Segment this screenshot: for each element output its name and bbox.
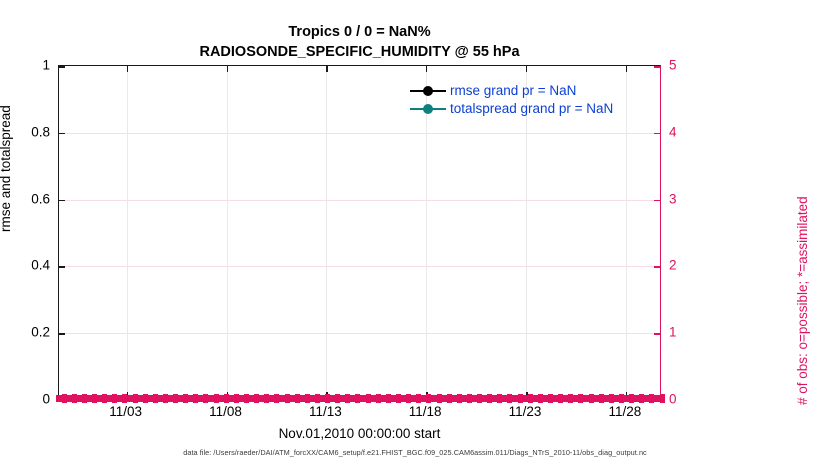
obs-assimilated-marker: [528, 394, 533, 403]
obs-assimilated-marker: [396, 394, 401, 403]
obs-possible-marker: [553, 395, 559, 402]
obs-assimilated-marker: [538, 394, 543, 403]
x-axis-tick-label: 11/18: [390, 404, 460, 419]
x-axis-tick-top: [626, 66, 627, 72]
gridline-vertical: [127, 66, 128, 398]
obs-possible-marker: [573, 395, 579, 402]
obs-possible-marker: [309, 395, 315, 402]
obs-possible-marker: [563, 395, 569, 402]
gridline-vertical: [227, 66, 228, 398]
x-axis-tick-label: 11/23: [490, 404, 560, 419]
obs-assimilated-marker: [639, 394, 644, 403]
obs-assimilated-marker: [457, 394, 462, 403]
obs-assimilated-marker: [62, 394, 67, 403]
obs-possible-marker: [603, 395, 609, 402]
obs-possible-marker: [472, 395, 478, 402]
x-axis-tick-label: 11/28: [590, 404, 660, 419]
chart-title-line-2: RADIOSONDE_SPECIFIC_HUMIDITY @ 55 hPa: [58, 42, 661, 62]
obs-assimilated-marker: [244, 394, 249, 403]
obs-assimilated-marker: [518, 394, 523, 403]
obs-possible-marker: [299, 395, 305, 402]
obs-possible-marker: [593, 395, 599, 402]
obs-assimilated-marker: [558, 394, 563, 403]
obs-assimilated-marker: [376, 394, 381, 403]
chart-title-line-1: Tropics 0 / 0 = NaN%: [58, 22, 661, 42]
x-axis-tick-label: 11/08: [191, 404, 261, 419]
obs-assimilated-marker: [366, 394, 371, 403]
x-axis-tick: [326, 392, 328, 398]
obs-possible-marker: [390, 395, 396, 402]
obs-possible-marker: [228, 395, 234, 402]
obs-assimilated-marker: [568, 394, 573, 403]
y-axis-right-tick: [654, 266, 660, 268]
x-axis-tick-label: 11/03: [91, 404, 161, 419]
obs-assimilated-marker: [467, 394, 472, 403]
obs-assimilated-marker: [649, 394, 654, 403]
obs-possible-marker: [613, 395, 619, 402]
obs-assimilated-marker: [193, 394, 198, 403]
y-axis-left-tick-label: 0.4: [0, 258, 50, 273]
x-axis-tick: [426, 392, 428, 398]
x-axis-tick: [127, 392, 129, 398]
obs-possible-marker: [208, 395, 214, 402]
obs-possible-marker: [137, 395, 143, 402]
obs-possible-marker: [583, 395, 589, 402]
obs-possible-marker: [401, 395, 407, 402]
legend-label-totalspread: totalspread grand pr = NaN: [450, 100, 613, 118]
obs-assimilated-marker: [254, 394, 259, 403]
x-axis-title: Nov.01,2010 00:00:00 start: [58, 426, 661, 441]
gridline-horizontal: [59, 200, 660, 201]
obs-possible-marker: [259, 395, 265, 402]
obs-possible-marker: [198, 395, 204, 402]
obs-assimilated-marker: [264, 394, 269, 403]
y-axis-right-tick-label: 4: [669, 124, 709, 139]
legend-item-rmse: rmse grand pr = NaN: [410, 82, 660, 100]
obs-possible-marker: [279, 395, 285, 402]
y-axis-left-tick-label: 0: [0, 392, 50, 407]
obs-possible-marker: [461, 395, 467, 402]
x-axis-tick-top: [426, 66, 427, 72]
data-file-caption: data file: /Users/raeder/DAI/ATM_forcXX/…: [0, 448, 830, 457]
legend-item-totalspread: totalspread grand pr = NaN: [410, 100, 660, 118]
x-axis-tick-top: [326, 66, 327, 72]
y-axis-right-tick-label: 1: [669, 325, 709, 340]
legend-line-marker-rmse: [410, 84, 446, 98]
obs-possible-marker: [431, 395, 437, 402]
obs-assimilated-marker: [112, 394, 117, 403]
obs-possible-marker: [380, 395, 386, 402]
legend-label-rmse: rmse grand pr = NaN: [450, 82, 576, 100]
obs-assimilated-marker: [173, 394, 178, 403]
obs-assimilated-marker: [619, 394, 624, 403]
obs-assimilated-marker: [315, 394, 320, 403]
obs-assimilated-marker: [548, 394, 553, 403]
y-axis-right-tick-label: 0: [669, 392, 709, 407]
x-axis-tick: [626, 392, 628, 398]
obs-assimilated-marker: [92, 394, 97, 403]
obs-possible-marker: [238, 395, 244, 402]
gridline-horizontal: [59, 133, 660, 134]
obs-possible-marker: [411, 395, 417, 402]
obs-assimilated-marker: [163, 394, 168, 403]
y-axis-right-tick-label: 5: [669, 58, 709, 73]
obs-possible-marker: [532, 395, 538, 402]
obs-possible-marker: [482, 395, 488, 402]
y-axis-left-tick: [59, 266, 65, 268]
gridline-horizontal: [59, 333, 660, 334]
obs-assimilated-marker: [82, 394, 87, 403]
y-axis-right-tick: [654, 400, 660, 402]
observation-marker-band: [59, 393, 660, 402]
obs-assimilated-marker: [214, 394, 219, 403]
obs-possible-marker: [451, 395, 457, 402]
y-axis-right-tick: [654, 133, 660, 135]
x-axis-tick-top: [127, 66, 128, 72]
obs-possible-marker: [330, 395, 336, 402]
obs-assimilated-marker: [355, 394, 360, 403]
y-axis-right-tick: [654, 66, 660, 68]
obs-assimilated-marker: [274, 394, 279, 403]
gridline-vertical: [326, 66, 327, 398]
y-axis-right-tick-label: 2: [669, 258, 709, 273]
y-axis-left-tick: [59, 133, 65, 135]
obs-assimilated-marker: [285, 394, 290, 403]
obs-possible-marker: [502, 395, 508, 402]
figure-canvas: Tropics 0 / 0 = NaN% RADIOSONDE_SPECIFIC…: [0, 0, 830, 470]
obs-possible-marker: [97, 395, 103, 402]
y-axis-right-tick-label: 3: [669, 191, 709, 206]
obs-assimilated-marker: [203, 394, 208, 403]
obs-assimilated-marker: [416, 394, 421, 403]
obs-possible-marker: [360, 395, 366, 402]
obs-possible-marker: [218, 395, 224, 402]
obs-assimilated-marker: [507, 394, 512, 403]
y-axis-left-tick: [59, 200, 65, 202]
y-axis-left-tick-label: 0.8: [0, 124, 50, 139]
obs-assimilated-marker: [497, 394, 502, 403]
obs-possible-marker: [340, 395, 346, 402]
obs-assimilated-marker: [589, 394, 594, 403]
obs-assimilated-marker: [72, 394, 77, 403]
obs-possible-marker: [188, 395, 194, 402]
y-axis-left-tick: [59, 333, 65, 335]
obs-assimilated-marker: [183, 394, 188, 403]
obs-possible-marker: [117, 395, 123, 402]
obs-assimilated-marker: [578, 394, 583, 403]
obs-assimilated-marker: [477, 394, 482, 403]
y-axis-left-tick-label: 1: [0, 58, 50, 73]
obs-assimilated-marker: [437, 394, 442, 403]
obs-possible-marker: [644, 395, 650, 402]
y-axis-right-tick: [654, 200, 660, 202]
obs-possible-marker: [66, 395, 72, 402]
y-axis-left-tick-label: 0.6: [0, 191, 50, 206]
obs-assimilated-marker: [345, 394, 350, 403]
obs-assimilated-marker: [133, 394, 138, 403]
y-axis-left-tick: [59, 66, 65, 68]
y-axis-right-title: # of obs: o=possible; *=assimilated: [795, 196, 810, 405]
obs-possible-marker: [157, 395, 163, 402]
obs-possible-marker: [350, 395, 356, 402]
x-axis-tick: [526, 392, 528, 398]
obs-assimilated-marker: [406, 394, 411, 403]
obs-assimilated-marker: [305, 394, 310, 403]
legend-line-marker-totalspread: [410, 102, 446, 116]
obs-assimilated-marker: [102, 394, 107, 403]
obs-possible-marker: [542, 395, 548, 402]
obs-possible-marker: [492, 395, 498, 402]
chart-legend: rmse grand pr = NaN totalspread grand pr…: [410, 82, 660, 118]
obs-assimilated-marker: [609, 394, 614, 403]
obs-possible-marker: [512, 395, 518, 402]
chart-title-block: Tropics 0 / 0 = NaN% RADIOSONDE_SPECIFIC…: [58, 22, 661, 62]
obs-assimilated-marker: [629, 394, 634, 403]
obs-assimilated-marker: [335, 394, 340, 403]
obs-assimilated-marker: [599, 394, 604, 403]
y-axis-left-tick-label: 0.2: [0, 325, 50, 340]
obs-possible-marker: [319, 395, 325, 402]
obs-possible-marker: [249, 395, 255, 402]
x-axis-tick-label: 11/13: [290, 404, 360, 419]
y-axis-left-tick: [59, 400, 65, 402]
obs-possible-marker: [634, 395, 640, 402]
x-axis-tick-top: [227, 66, 228, 72]
obs-possible-marker: [167, 395, 173, 402]
obs-assimilated-marker: [295, 394, 300, 403]
obs-possible-marker: [76, 395, 82, 402]
obs-possible-marker: [289, 395, 295, 402]
obs-possible-marker: [370, 395, 376, 402]
obs-possible-marker: [178, 395, 184, 402]
gridline-horizontal: [59, 266, 660, 267]
obs-possible-marker: [107, 395, 113, 402]
obs-assimilated-marker: [487, 394, 492, 403]
obs-assimilated-marker: [234, 394, 239, 403]
obs-possible-marker: [441, 395, 447, 402]
obs-assimilated-marker: [386, 394, 391, 403]
obs-possible-marker: [269, 395, 275, 402]
x-axis-tick-top: [526, 66, 527, 72]
y-axis-right-tick: [654, 333, 660, 335]
obs-assimilated-marker: [447, 394, 452, 403]
obs-assimilated-marker: [153, 394, 158, 403]
obs-assimilated-marker: [660, 394, 665, 403]
x-axis-tick: [227, 392, 229, 398]
obs-possible-marker: [86, 395, 92, 402]
obs-assimilated-marker: [143, 394, 148, 403]
obs-possible-marker: [147, 395, 153, 402]
